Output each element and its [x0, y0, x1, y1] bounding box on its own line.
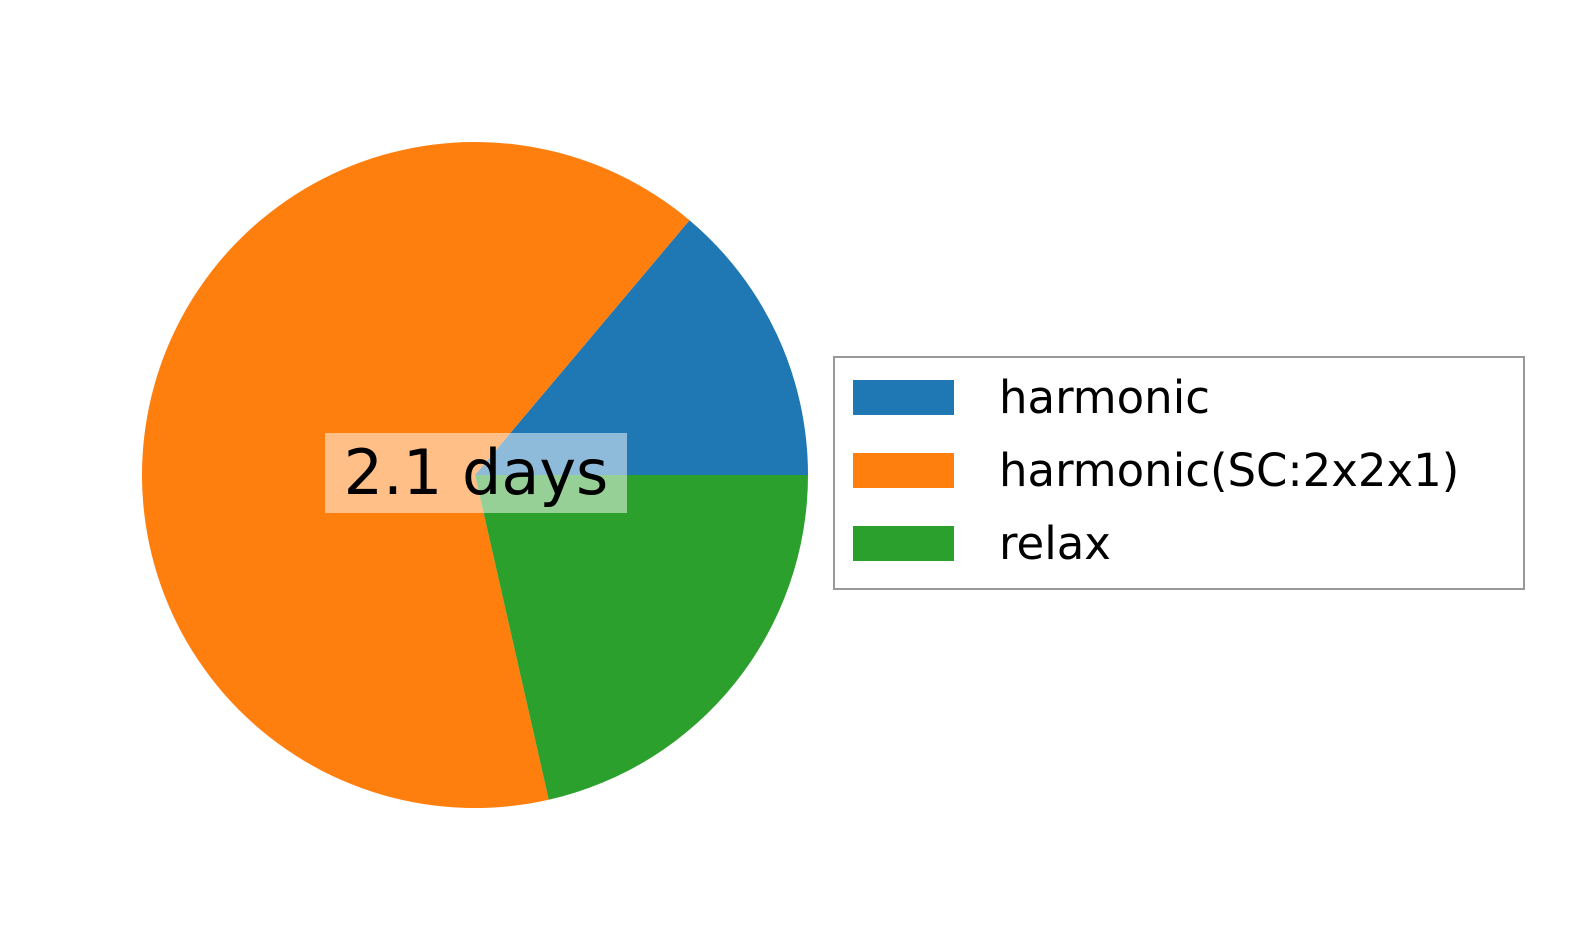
legend-label-harmonic-sc-2x2x1: harmonic(SC:2x2x1) [999, 448, 1459, 493]
legend-label-harmonic: harmonic [999, 375, 1210, 420]
figure-canvas: 2.1 days harmonic harmonic(SC:2x2x1) rel… [0, 0, 1585, 951]
legend-swatch-relax [853, 526, 954, 561]
pie-center-label: 2.1 days [325, 433, 627, 513]
legend-label-relax: relax [999, 521, 1111, 566]
center-label-text: 2.1 days [344, 442, 609, 504]
legend-entry-relax[interactable]: relax [853, 525, 1111, 561]
chart-legend: harmonic harmonic(SC:2x2x1) relax [833, 356, 1525, 590]
legend-swatch-harmonic [853, 380, 954, 415]
legend-swatch-harmonic-sc-2x2x1 [853, 453, 954, 488]
legend-entry-harmonic[interactable]: harmonic [853, 379, 1210, 415]
legend-entry-harmonic-sc-2x2x1[interactable]: harmonic(SC:2x2x1) [853, 452, 1459, 488]
